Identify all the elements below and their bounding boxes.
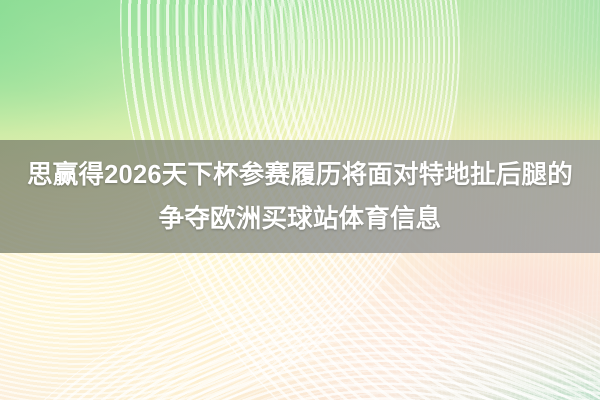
wave-pattern-bottom-icon (0, 236, 600, 400)
wave-pattern-bottom-fine-icon (0, 277, 600, 400)
banner-image: 思赢得2026天下杯参赛履历将面对特地扯后腿的 争夺欧洲买球站体育信息 (0, 0, 600, 400)
caption-line-2: 争夺欧洲买球站体育信息 (159, 197, 442, 241)
caption-line-1: 思赢得2026天下杯参赛履历将面对特地扯后腿的 (27, 153, 573, 197)
caption-band: 思赢得2026天下杯参赛履历将面对特地扯后腿的 争夺欧洲买球站体育信息 (0, 140, 600, 253)
